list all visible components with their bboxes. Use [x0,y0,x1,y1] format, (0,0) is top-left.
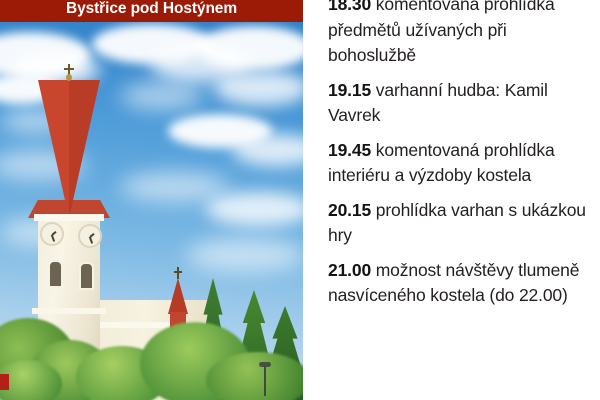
red-sign-marker [0,374,9,390]
tower-louvre-window [48,260,63,288]
tower-cornice [32,308,106,314]
schedule-entry-time: 19.45 [328,140,371,160]
street-lamp-post [264,366,266,396]
schedule-entry: 18.30 komentovaná prohlídka předmětů uží… [328,0,596,69]
tower-louvre-window [79,262,94,290]
title-bar: Bystřice pod Hostýnem [0,0,303,22]
clock-face [78,224,102,248]
schedule-entry: 20.15 prohlídka varhan s ukázkou hry [328,198,596,249]
schedule-entry-time: 20.15 [328,200,371,220]
schedule-column: 18.30 komentovaná prohlídka předmětů uží… [303,0,600,400]
tower-spire-shadow [69,80,100,218]
clock-face [40,222,64,246]
spire-finial [66,74,72,81]
schedule-entry: 21.00 možnost návštěvy tlumeně nasvícené… [328,258,596,309]
turret-cross-icon [174,271,182,273]
tower-cornice [34,214,104,221]
page-title: Bystřice pod Hostýnem [0,0,303,20]
schedule-list: 18.30 komentovaná prohlídka předmětů uží… [328,0,596,309]
clock-minute-hand [51,234,55,241]
schedule-entry-time: 18.30 [328,0,371,14]
cross-icon [64,68,74,70]
poster-root: Bystřice pod Hostýnem [0,0,600,400]
schedule-entry: 19.45 komentovaná prohlídka interiéru a … [328,138,596,189]
turret-cross-icon [177,267,179,279]
schedule-entry: 19.15 varhanní hudba: Kamil Vavrek [328,78,596,129]
church-photo [0,22,303,400]
turret-spire [168,278,188,314]
clock-minute-hand [89,236,93,243]
photo-column: Bystřice pod Hostýnem [0,0,303,400]
schedule-entry-time: 21.00 [328,260,371,280]
schedule-entry-time: 19.15 [328,80,371,100]
tree-foliage [206,352,303,400]
